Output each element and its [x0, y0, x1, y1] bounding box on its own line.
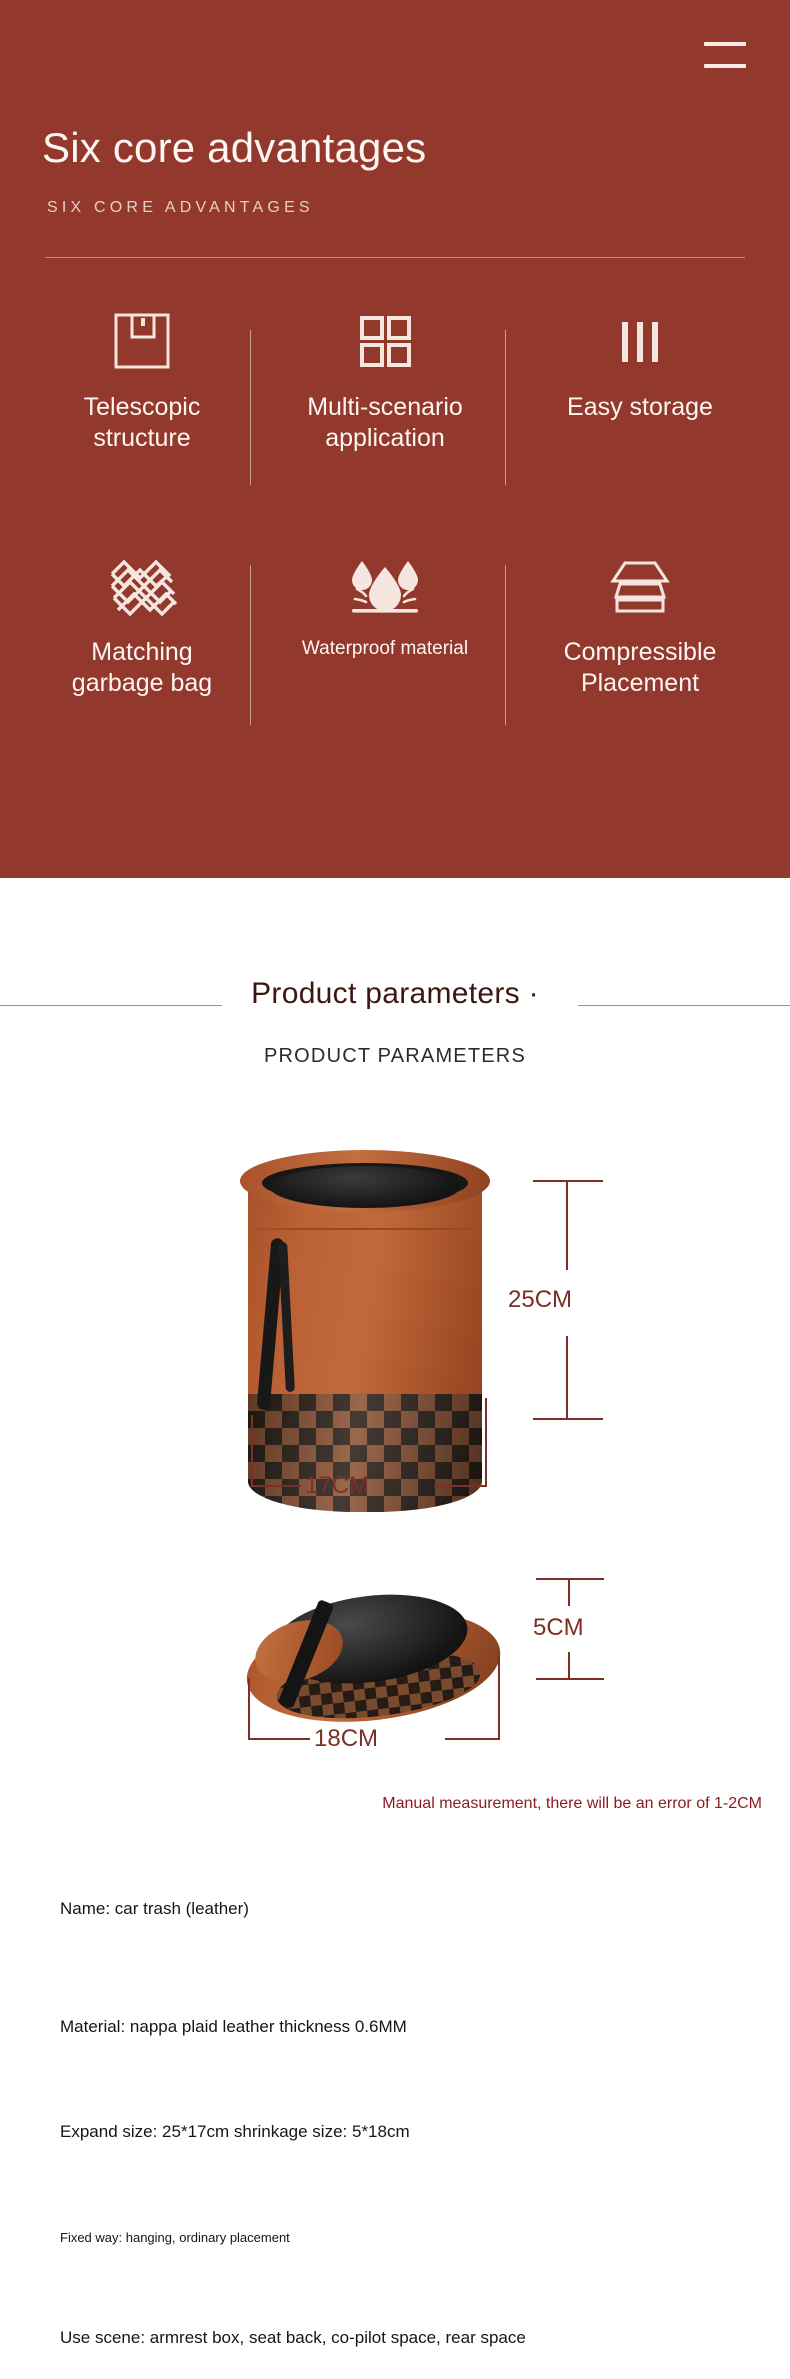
- bin-stitching: [254, 1228, 476, 1230]
- dimension-height-label: 5CM: [533, 1614, 584, 1642]
- three-bars-icon: [607, 300, 673, 382]
- dim-tick-right: [485, 1398, 487, 1487]
- feature-label: Matchinggarbage bag: [72, 637, 212, 698]
- dim-line-right: [445, 1738, 500, 1740]
- hamburger-bar: [704, 42, 746, 46]
- measurement-note: Manual measurement, there will be an err…: [382, 1795, 762, 1813]
- grid-four-squares-icon: [352, 300, 418, 382]
- stacked-layers-icon: [603, 545, 677, 627]
- feature-label: Multi-scenarioapplication: [307, 392, 463, 453]
- dim-line-right: [434, 1485, 487, 1487]
- column-divider: [505, 330, 506, 485]
- feature-label: Waterproof material: [302, 637, 468, 660]
- feature-item-compressible-placement[interactable]: CompressiblePlacement: [520, 545, 760, 775]
- feature-label: Easy storage: [567, 392, 713, 423]
- telescopic-box-icon: [109, 300, 175, 382]
- expanded-product-figure: 25CM 17CM: [0, 1140, 790, 1560]
- page-subtitle: SIX CORE ADVANTAGES: [47, 199, 314, 217]
- feature-item-easy-storage[interactable]: Easy storage: [520, 300, 760, 530]
- hero-section: Six core advantages SIX CORE ADVANTAGES …: [0, 0, 790, 878]
- feature-label: Telescopicstructure: [84, 392, 201, 453]
- spec-item-name: Name: car trash (leather): [60, 1900, 249, 1917]
- spec-item-size: Expand size: 25*17cm shrinkage size: 5*1…: [60, 2123, 410, 2140]
- section-subtitle: PRODUCT PARAMETERS: [0, 1045, 790, 1068]
- dimension-width-label: 17CM: [305, 1472, 369, 1500]
- hamburger-menu-icon[interactable]: [704, 42, 746, 68]
- dim-tick-right: [498, 1655, 500, 1740]
- dim-tick-bottom: [533, 1418, 603, 1420]
- bin-liner: [270, 1166, 460, 1208]
- dim-line-lower: [568, 1652, 570, 1680]
- dim-line-lower: [566, 1336, 568, 1420]
- dim-tick-left: [251, 1415, 253, 1487]
- header-divider: [45, 257, 745, 258]
- collapsed-product-figure: 5CM 18CM: [0, 1560, 790, 1800]
- feature-grid: Telescopicstructure Multi-scenarioapplic…: [0, 300, 790, 790]
- dim-tick-left: [248, 1678, 250, 1740]
- feature-row-2: Matchinggarbage bag Waterproof ma: [0, 545, 790, 790]
- dim-line-upper: [566, 1180, 568, 1270]
- dim-line-upper: [568, 1578, 570, 1606]
- water-droplets-icon: [347, 545, 423, 627]
- feature-item-telescopic-structure[interactable]: Telescopicstructure: [22, 300, 262, 530]
- feature-item-waterproof-material[interactable]: Waterproof material: [265, 545, 505, 775]
- spec-item-fixed-way: Fixed way: hanging, ordinary placement: [60, 2231, 290, 2244]
- dimension-height-label: 25CM: [508, 1286, 572, 1314]
- spec-item-material: Material: nappa plaid leather thickness …: [60, 2018, 407, 2035]
- mesh-lattice-icon: [106, 545, 178, 627]
- dim-line-left: [248, 1738, 310, 1740]
- feature-item-matching-garbage-bag[interactable]: Matchinggarbage bag: [22, 545, 262, 775]
- product-parameters-header: Product parameters · PRODUCT PARAMETERS: [0, 955, 790, 1085]
- section-title: Product parameters ·: [0, 977, 790, 1011]
- hamburger-bar: [704, 64, 746, 68]
- spec-item-use-scene: Use scene: armrest box, seat back, co-pi…: [60, 2329, 526, 2346]
- page-title: Six core advantages: [42, 127, 426, 169]
- dim-tick-top: [533, 1180, 603, 1182]
- feature-label: CompressiblePlacement: [564, 637, 717, 698]
- car-trash-bin-collapsed-image: [246, 1582, 501, 1722]
- dim-tick-bottom: [536, 1678, 604, 1680]
- dim-tick-top: [536, 1578, 604, 1580]
- column-divider: [505, 565, 506, 725]
- feature-row-1: Telescopicstructure Multi-scenarioapplic…: [0, 300, 790, 545]
- feature-item-multi-scenario-application[interactable]: Multi-scenarioapplication: [265, 300, 505, 530]
- dim-line-left: [251, 1485, 301, 1487]
- dimension-width-label: 18CM: [314, 1725, 378, 1753]
